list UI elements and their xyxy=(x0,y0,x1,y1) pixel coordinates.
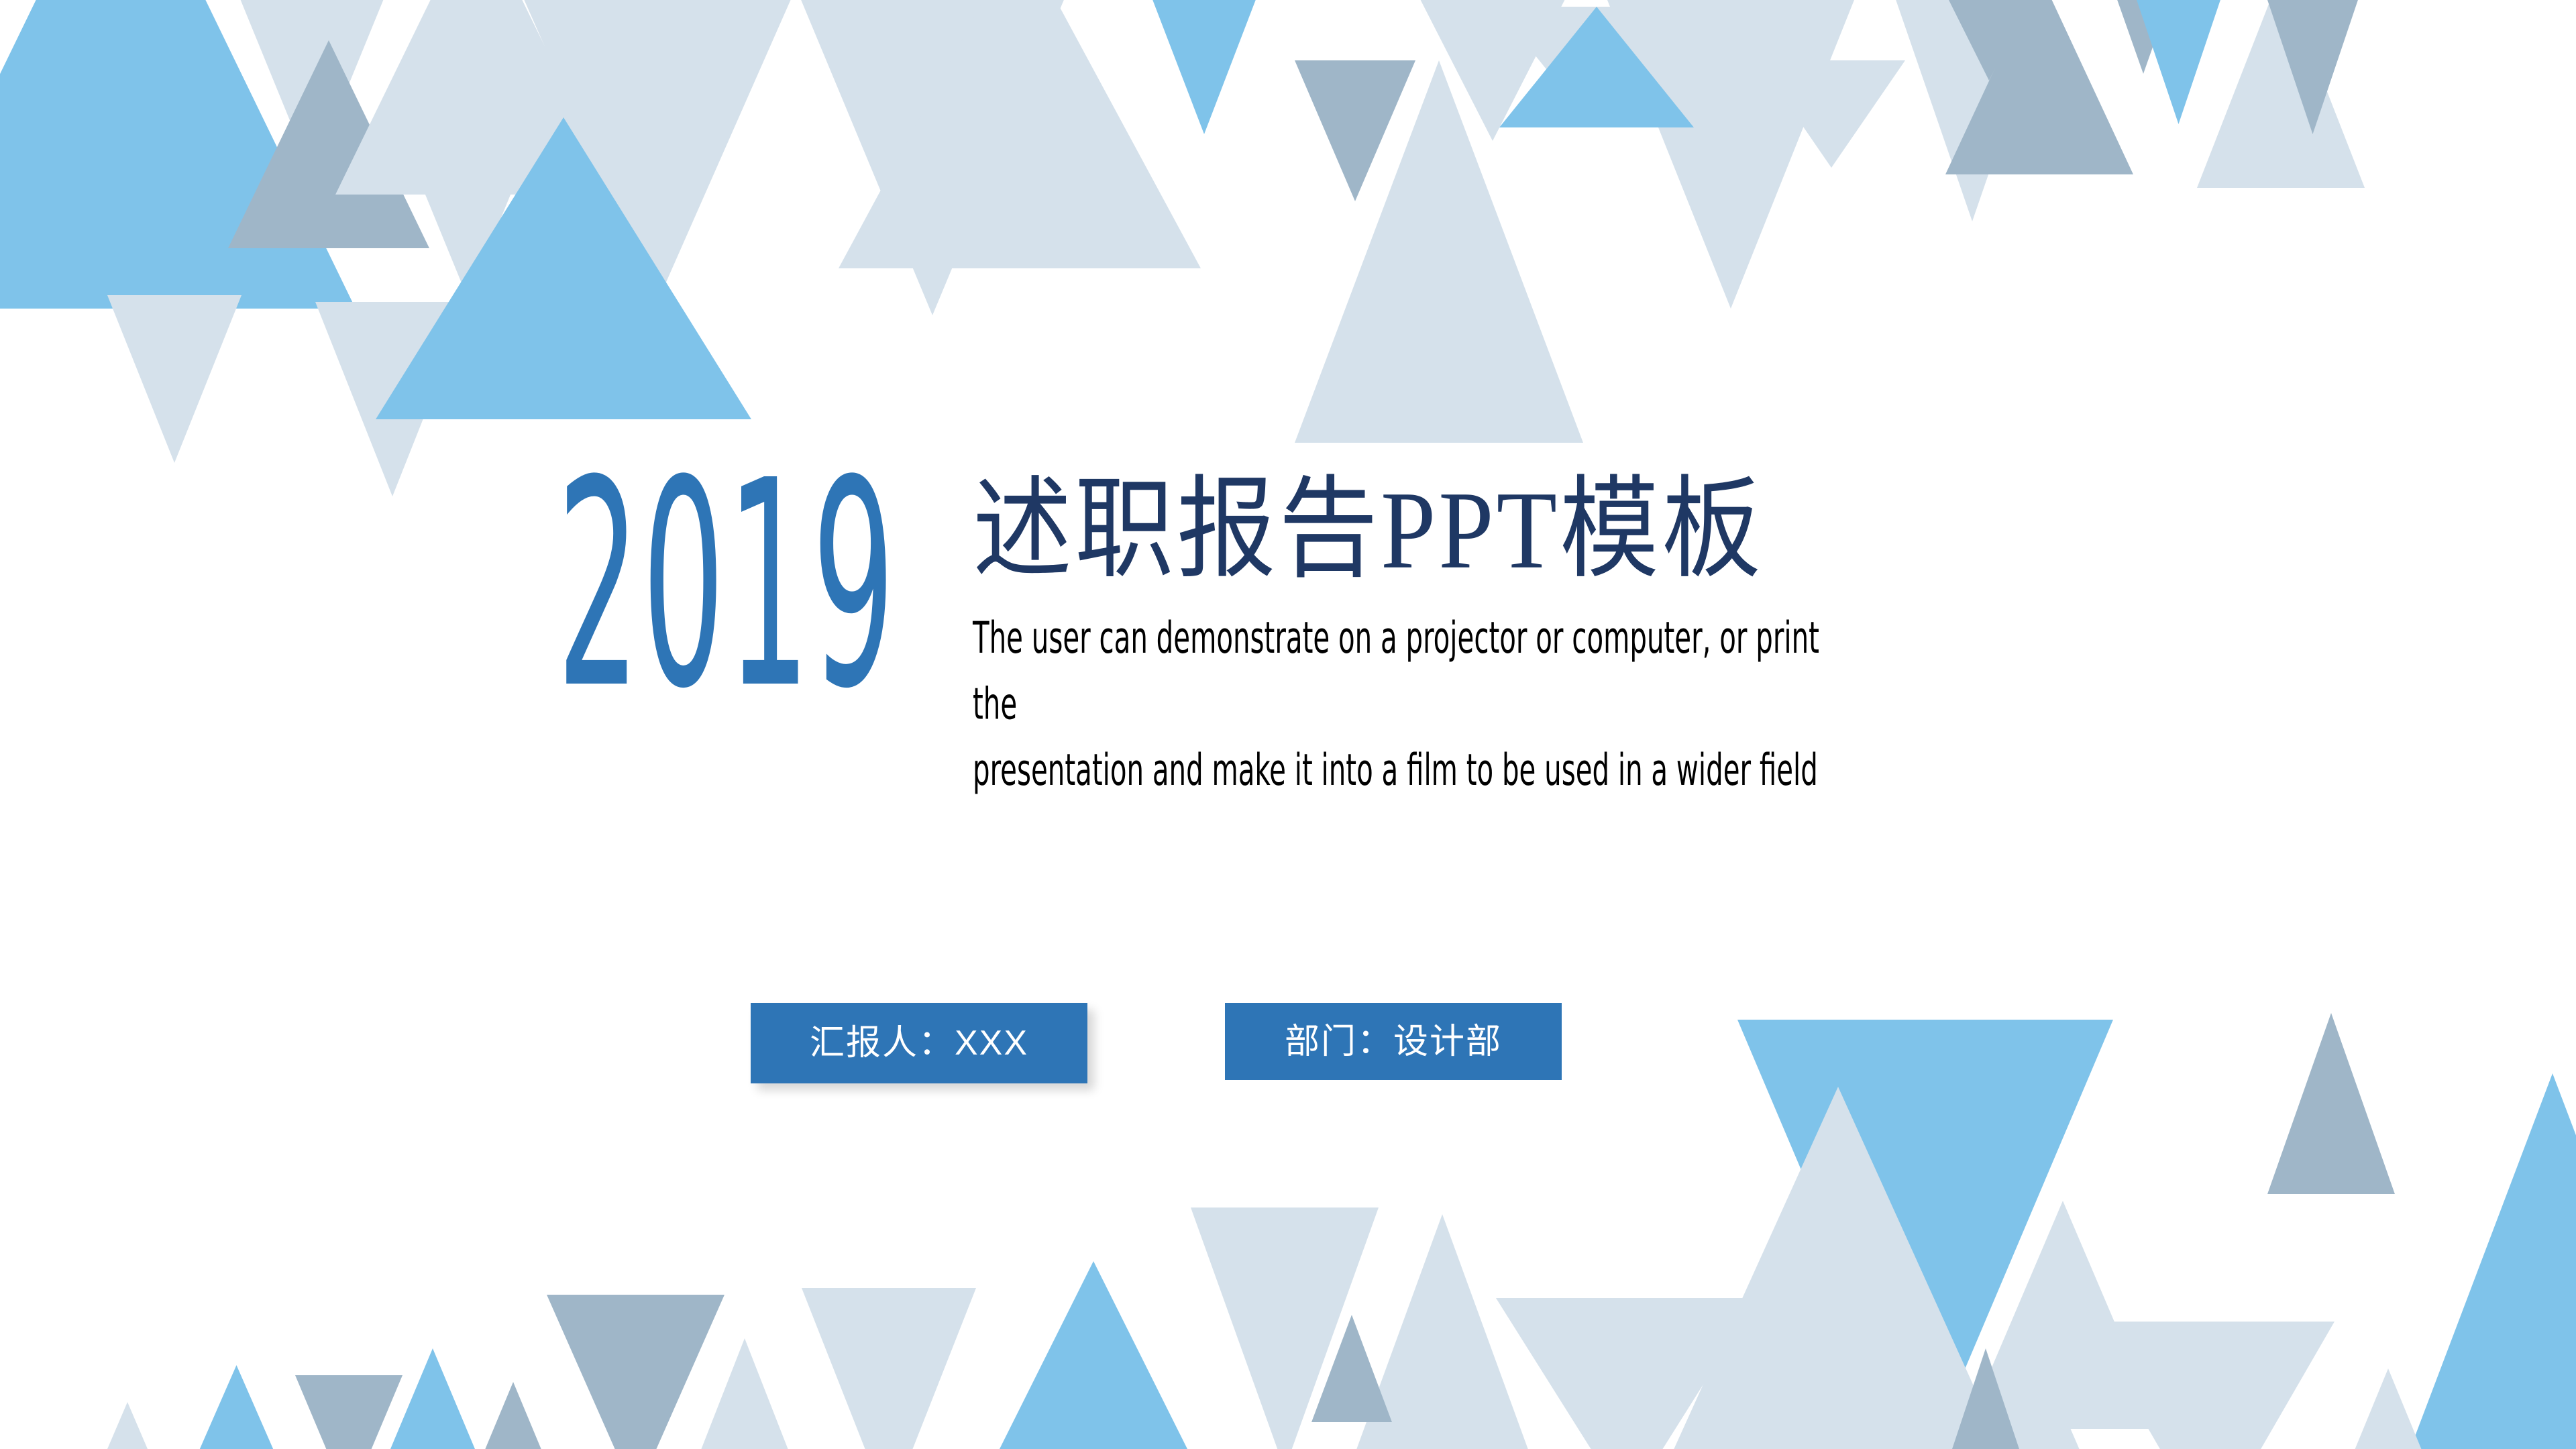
reporter-badge[interactable]: 汇报人：XXX xyxy=(751,1003,1087,1083)
subtitle-line-2: presentation and make it into a film to … xyxy=(973,737,1831,804)
title-block: 2019 述职报告PPT模板 The user can demonstrate … xyxy=(557,470,2046,776)
slide-content: 2019 述职报告PPT模板 The user can demonstrate … xyxy=(0,0,2576,1449)
subtitle-line-1: The user can demonstrate on a projector … xyxy=(973,605,1831,737)
page-title: 述职报告PPT模板 xyxy=(973,475,2046,586)
meta-button-row: 汇报人：XXX 部门：设计部 xyxy=(751,1003,1562,1083)
subtitle-paragraph: The user can demonstrate on a projector … xyxy=(973,605,1831,804)
department-badge[interactable]: 部门：设计部 xyxy=(1225,1003,1562,1080)
year-heading: 2019 xyxy=(557,470,919,703)
title-text-group: 述职报告PPT模板 The user can demonstrate on a … xyxy=(973,470,2046,776)
presentation-slide: 2019 述职报告PPT模板 The user can demonstrate … xyxy=(0,0,2576,1449)
